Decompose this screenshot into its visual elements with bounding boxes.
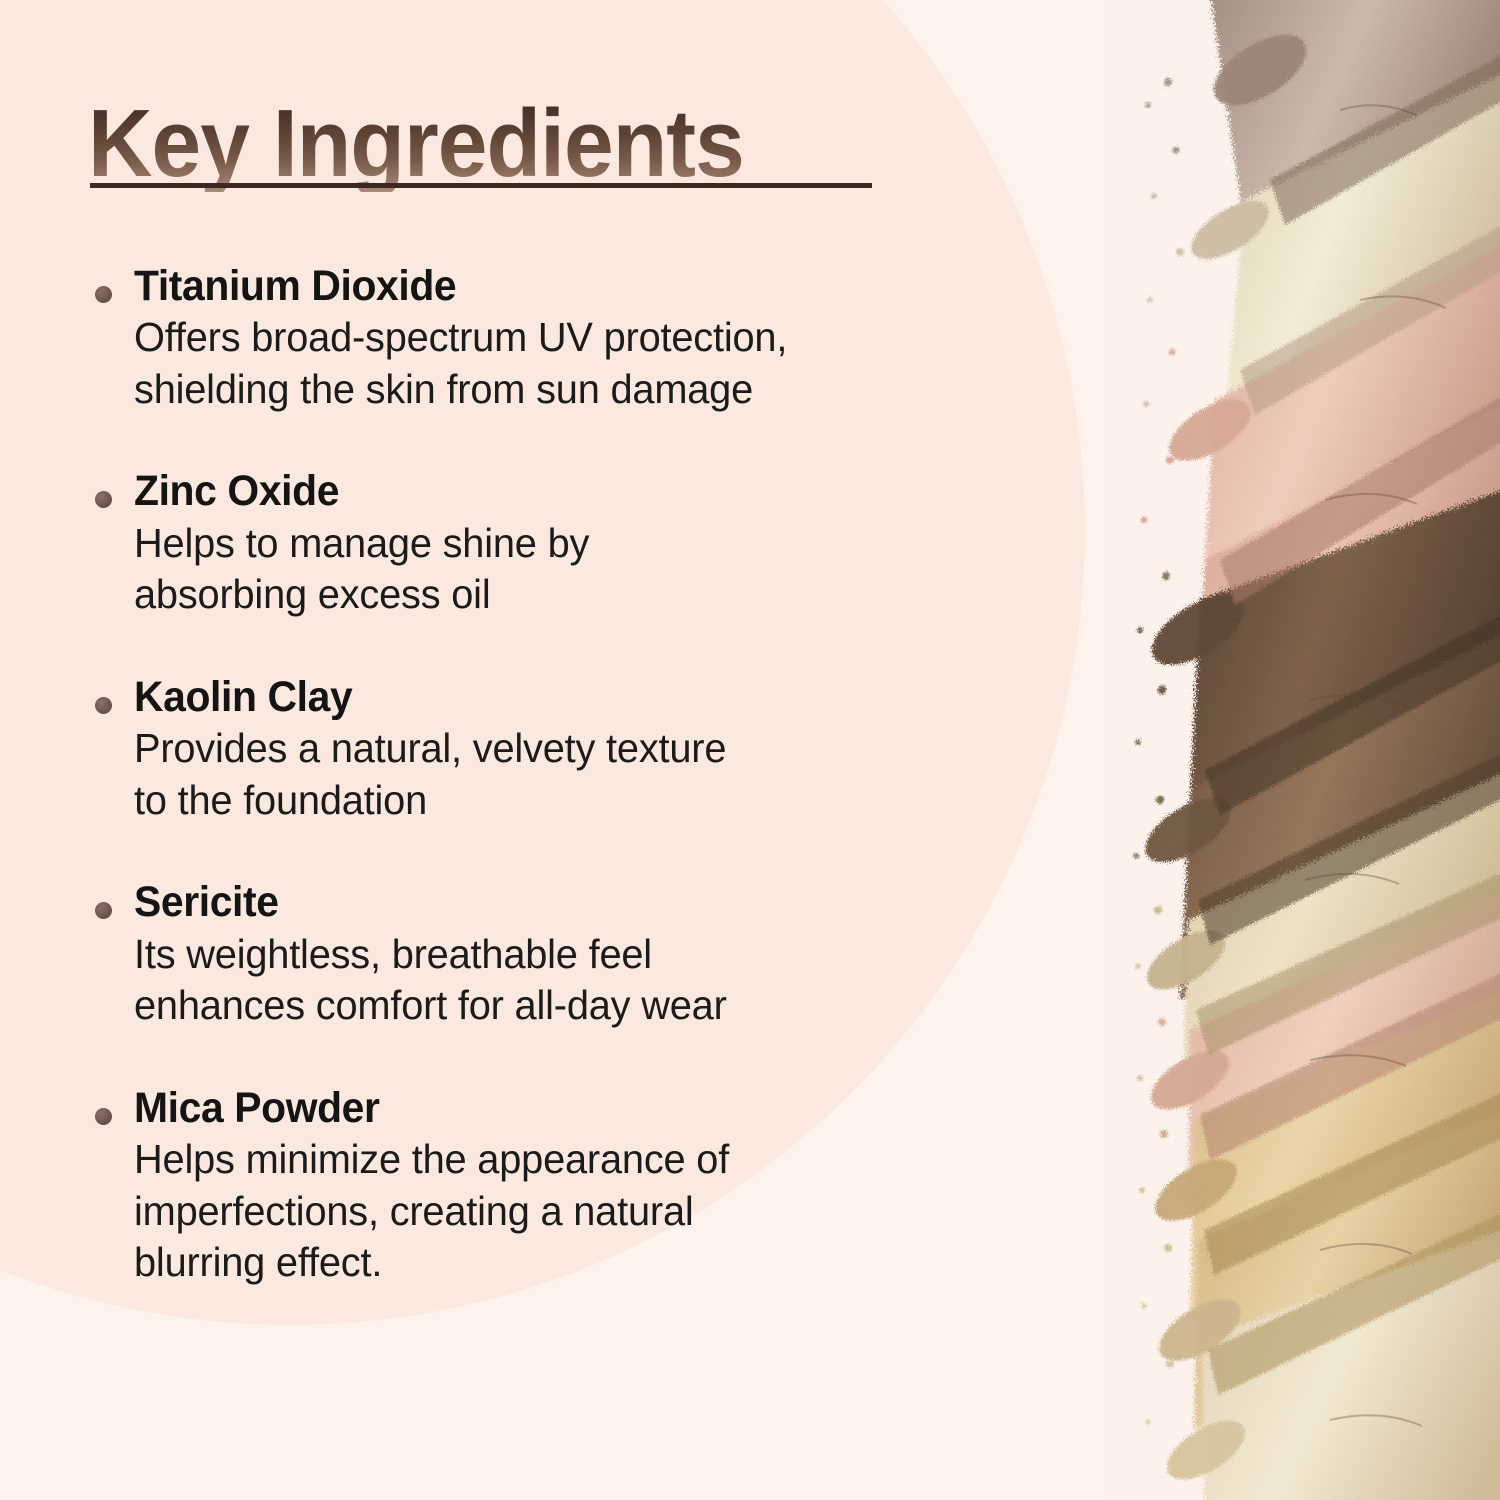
list-item: Titanium Dioxide Offers broad-spectrum U… [92, 262, 992, 415]
title-underline-rule [90, 183, 872, 188]
ingredient-name: Zinc Oxide [134, 467, 949, 515]
ingredient-name: Titanium Dioxide [134, 262, 949, 310]
bullet-dot-icon [95, 286, 112, 303]
list-item: Zinc Oxide Helps to manage shine by abso… [92, 467, 992, 620]
bullet-dot-icon [95, 491, 112, 508]
list-item: Sericite Its weightless, breathable feel… [92, 878, 992, 1031]
list-item: Kaolin Clay Provides a natural, velvety … [92, 673, 992, 826]
powder-swatch-image [1110, 0, 1500, 1500]
page-title: Key Ingredients [88, 96, 832, 192]
list-item: Mica Powder Helps minimize the appearanc… [92, 1084, 992, 1289]
ingredient-description: Helps minimize the appearance of imperfe… [134, 1134, 966, 1289]
bullet-dot-icon [95, 902, 112, 919]
ingredient-name: Sericite [134, 878, 949, 926]
ingredient-description: Provides a natural, velvety texture to t… [134, 723, 966, 826]
ingredient-description: Offers broad-spectrum UV protection, shi… [134, 312, 966, 415]
ingredient-name: Mica Powder [134, 1084, 949, 1132]
page-title-wrap: Key Ingredients [88, 96, 888, 192]
key-ingredients-panel: Key Ingredients Titanium Dioxide Offers … [0, 0, 1500, 1500]
ingredient-name: Kaolin Clay [134, 673, 949, 721]
bullet-dot-icon [95, 697, 112, 714]
bullet-dot-icon [95, 1108, 112, 1125]
ingredient-description: Helps to manage shine by absorbing exces… [134, 518, 966, 621]
ingredient-description: Its weightless, breathable feel enhances… [134, 929, 966, 1032]
ingredient-list: Titanium Dioxide Offers broad-spectrum U… [92, 262, 992, 1289]
